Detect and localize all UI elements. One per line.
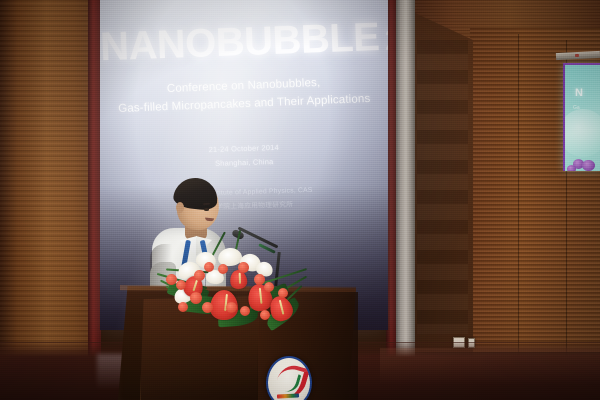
wall-seam bbox=[518, 34, 519, 356]
slide-title-word: NANOBUBBLE bbox=[100, 15, 380, 69]
side-screen-mount-indicator bbox=[575, 54, 579, 57]
flower-bud bbox=[226, 302, 237, 313]
flower-bud bbox=[202, 302, 213, 313]
grey-pillar bbox=[396, 0, 415, 372]
side-screen-subtitle: Ga bbox=[573, 105, 580, 111]
conference-photo: NANOBUBBLE2014 Conference on Nanobubbles… bbox=[0, 0, 600, 400]
slide-meta: 21-24 October 2014 Shanghai, China bbox=[100, 137, 388, 174]
flower-bud bbox=[238, 262, 249, 273]
side-screen-flower bbox=[582, 160, 595, 171]
side-screen-flower bbox=[567, 165, 576, 171]
back-wall-dark-panel bbox=[413, 12, 473, 362]
side-screen-title: N bbox=[575, 87, 583, 99]
slide-title-year: 2014 bbox=[384, 22, 388, 56]
slide-subtitle: Conference on Nanobubbles, Gas-filled Mi… bbox=[100, 72, 388, 119]
flower-bud bbox=[190, 292, 202, 304]
secondary-display: N Ga bbox=[563, 63, 600, 171]
side-screen-circle-graphic bbox=[563, 109, 600, 157]
flower-arrangement bbox=[160, 240, 310, 348]
speaker-eye bbox=[204, 208, 209, 211]
flower-bud bbox=[260, 310, 270, 320]
emblem-colour-bar bbox=[277, 393, 299, 398]
flower-bud bbox=[204, 262, 214, 272]
speaker-ear bbox=[176, 202, 184, 213]
left-wall-wood bbox=[0, 0, 97, 400]
flower-bud bbox=[278, 288, 288, 298]
flower-bud bbox=[254, 274, 265, 285]
flower-bud bbox=[178, 302, 188, 312]
flower-bud bbox=[218, 264, 228, 274]
flower-bud bbox=[240, 306, 250, 316]
flower-bud bbox=[264, 282, 274, 292]
flower-bud bbox=[194, 270, 205, 281]
slide-organizer: Shanghai Institute of Applied Physics, C… bbox=[100, 181, 388, 219]
slide-title: NANOBUBBLE2014 bbox=[100, 17, 388, 68]
flower-bud bbox=[176, 280, 186, 290]
floor-reflection bbox=[380, 348, 600, 400]
